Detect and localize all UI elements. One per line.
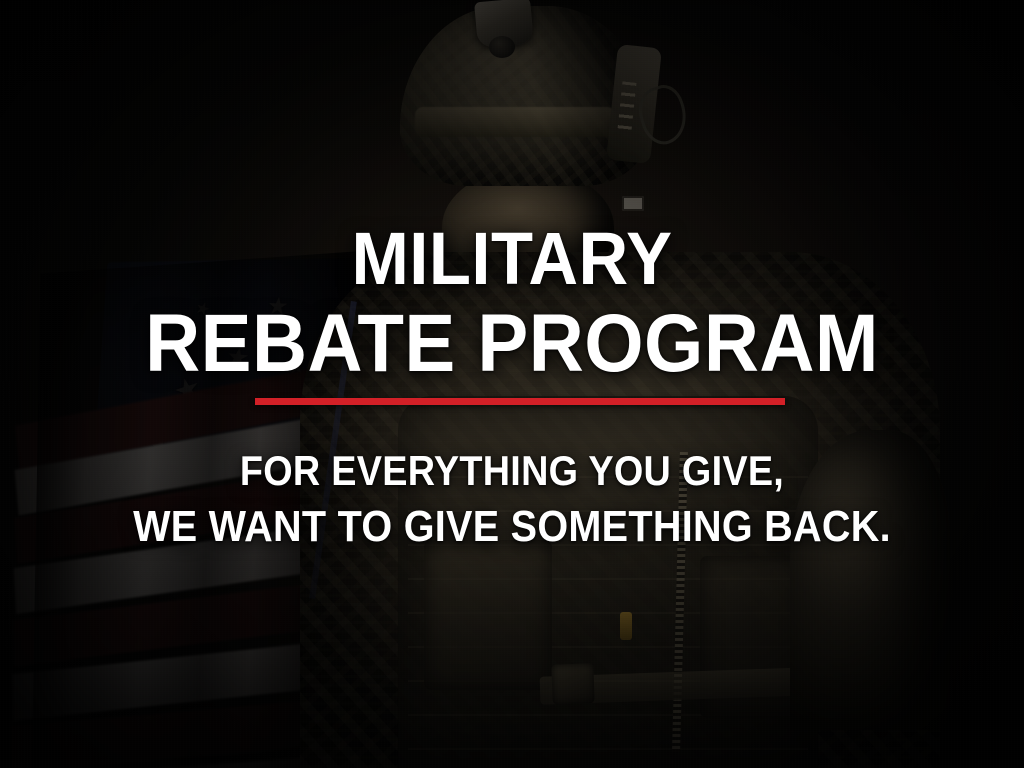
text-overlay: MILITARY REBATE PROGRAM FOR EVERYTHING Y… (0, 0, 1024, 768)
headline-line-1: MILITARY (36, 222, 988, 296)
subhead-line-2: WE WANT TO GIVE SOMETHING BACK. (51, 505, 973, 549)
military-rebate-poster: ★★★★★★★★ (0, 0, 1024, 768)
headline-line-2: REBATE PROGRAM (36, 303, 988, 385)
red-divider-rule (255, 398, 785, 405)
subhead-line-1: FOR EVERYTHING YOU GIVE, (51, 450, 973, 492)
